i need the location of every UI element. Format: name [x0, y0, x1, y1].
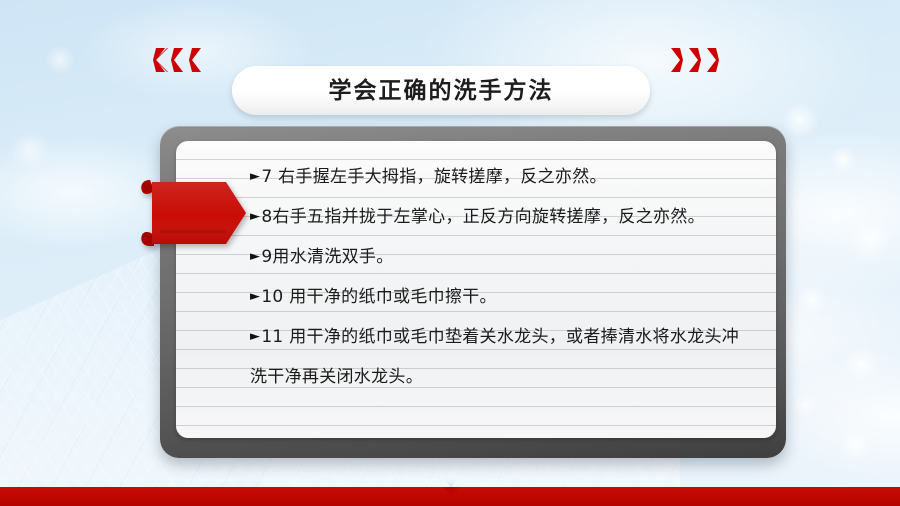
triangle-down-icon — [443, 487, 459, 496]
instruction-list: ►7 右手握左手大拇指，旋转搓摩，反之亦然。 ►8右手五指并拢于左掌心，正反方向… — [250, 158, 770, 396]
bullet-triangle-icon: ► — [250, 249, 260, 264]
bullet-triangle-icon: ► — [250, 289, 260, 304]
chevron-right-icon — [704, 48, 719, 72]
list-item: ►10 用干净的纸巾或毛巾擦干。 — [250, 278, 770, 318]
title-row: 学会正确的洗手方法 — [0, 30, 900, 92]
bullet-triangle-icon: ► — [250, 329, 260, 344]
chevron-left-icon — [171, 48, 186, 72]
list-item: ►7 右手握左手大拇指，旋转搓摩，反之亦然。 — [250, 158, 770, 198]
slide-canvas: 学会正确的洗手方法 ►7 右手握左手大拇指，旋转搓摩，反之亦然。 ►8右手五指并… — [0, 0, 900, 506]
bullet-triangle-icon: ► — [250, 209, 260, 224]
chevron-right-icon — [686, 48, 701, 72]
list-item: ►8右手五指并拢于左掌心，正反方向旋转搓摩，反之亦然。 — [250, 198, 755, 238]
chevron-left-icon — [189, 48, 204, 72]
red-arrow-ribbon — [140, 178, 248, 248]
page-title: 学会正确的洗手方法 — [329, 79, 554, 102]
list-item-text: 7 右手握左手大拇指，旋转搓摩，反之亦然。 — [261, 167, 607, 187]
list-item-text: 11 用干净的纸巾或毛巾垫着关水龙头，或者捧清水将水龙头冲洗干净再关闭水龙头。 — [250, 327, 739, 387]
list-item-text: 8右手五指并拢于左掌心，正反方向旋转搓摩，反之亦然。 — [261, 207, 705, 227]
list-item-text: 9用水清洗双手。 — [261, 247, 393, 267]
list-item: ►11 用干净的纸巾或毛巾垫着关水龙头，或者捧清水将水龙头冲洗干净再关闭水龙头。 — [250, 318, 755, 396]
list-item: ►9用水清洗双手。 — [250, 238, 770, 278]
chevron-right-icon-group — [668, 48, 719, 72]
list-item-text: 10 用干净的纸巾或毛巾擦干。 — [261, 287, 497, 307]
chevron-left-icon — [153, 48, 168, 72]
chevron-right-icon — [668, 48, 683, 72]
chevron-left-icon-group — [153, 48, 204, 72]
bullet-triangle-icon: ► — [250, 169, 260, 184]
title-pill: 学会正确的洗手方法 — [232, 66, 650, 115]
